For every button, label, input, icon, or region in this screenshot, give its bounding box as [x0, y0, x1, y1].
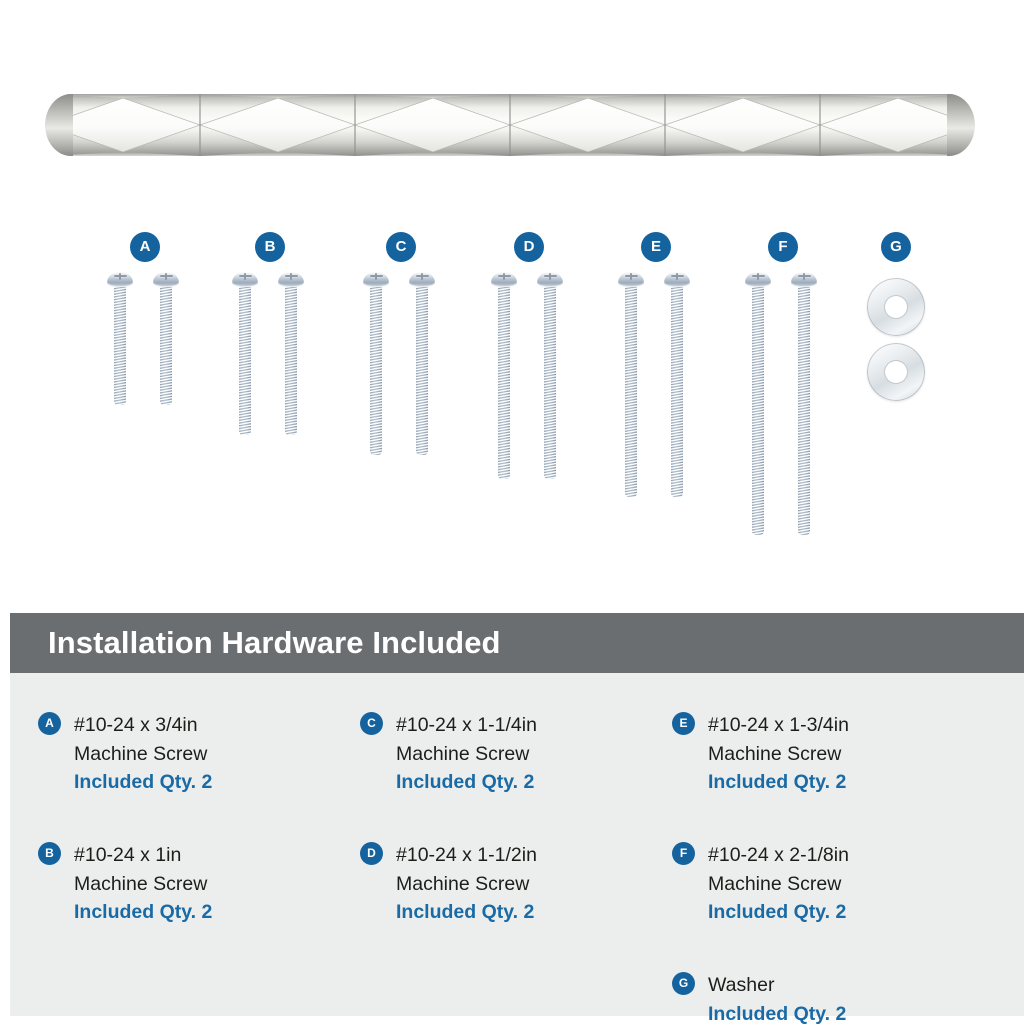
screw-head [153, 272, 179, 287]
legend-badge-a: A [38, 712, 61, 735]
screw-head [791, 272, 817, 287]
screw-head [745, 272, 771, 287]
legend-qty: Included Qty. 2 [396, 898, 680, 927]
legend-spec: #10-24 x 1-1/4in [396, 711, 680, 740]
legend-column-2: C #10-24 x 1-1/4in Machine Screw Include… [360, 673, 680, 933]
screw-shank [752, 287, 764, 535]
legend-body: A #10-24 x 3/4in Machine Screw Included … [10, 673, 1024, 1016]
legend-badge-c: C [360, 712, 383, 735]
washer-2 [867, 343, 925, 401]
screw-shank [544, 287, 556, 479]
legend-badge-g: G [672, 972, 695, 995]
legend-kind: Machine Screw [74, 740, 358, 769]
legend-qty: Included Qty. 2 [708, 768, 992, 797]
screw-d-2 [537, 272, 563, 479]
screw-shank [239, 287, 251, 435]
diagram-badge-f: F [768, 232, 798, 262]
screw-head [232, 272, 258, 287]
screw-head [664, 272, 690, 287]
legend-kind: Machine Screw [708, 740, 992, 769]
legend-item-b: B #10-24 x 1in Machine Screw Included Qt… [38, 841, 358, 933]
legend-kind: Machine Screw [396, 740, 680, 769]
legend-qty: Included Qty. 2 [708, 898, 992, 927]
bar-pull-body [45, 94, 975, 156]
legend-kind: Machine Screw [396, 870, 680, 899]
screw-e-2 [664, 272, 690, 497]
screw-shank [498, 287, 510, 479]
legend-spec: Washer [708, 971, 992, 1000]
legend-kind: Machine Screw [74, 870, 358, 899]
legend-column-3: E #10-24 x 1-3/4in Machine Screw Include… [672, 673, 992, 1031]
screw-d-1 [491, 272, 517, 479]
bar-pull-facet-pattern [45, 94, 975, 156]
screw-f-1 [745, 272, 771, 535]
legend-badge-e: E [672, 712, 695, 735]
legend-spec: #10-24 x 1-3/4in [708, 711, 992, 740]
diagram-badge-c: C [386, 232, 416, 262]
screw-shank [625, 287, 637, 497]
legend-header-bar: Installation Hardware Included [10, 613, 1024, 673]
screw-head [363, 272, 389, 287]
product-hardware-sheet: A B C [0, 0, 1024, 1024]
diagram-badge-b: B [255, 232, 285, 262]
legend-spec: #10-24 x 3/4in [74, 711, 358, 740]
screw-head [278, 272, 304, 287]
screw-b-1 [232, 272, 258, 435]
legend-qty: Included Qty. 2 [74, 768, 358, 797]
legend-item-a: A #10-24 x 3/4in Machine Screw Included … [38, 711, 358, 803]
screw-head [409, 272, 435, 287]
screw-f-2 [791, 272, 817, 535]
screw-head [537, 272, 563, 287]
legend-badge-d: D [360, 842, 383, 865]
screw-shank [160, 287, 172, 405]
screw-head [107, 272, 133, 287]
legend-badge-b: B [38, 842, 61, 865]
screw-b-2 [278, 272, 304, 435]
screw-c-2 [409, 272, 435, 455]
washer-1 [867, 278, 925, 336]
legend-item-d: D #10-24 x 1-1/2in Machine Screw Include… [360, 841, 680, 933]
legend-title: Installation Hardware Included [48, 613, 501, 673]
screw-head [618, 272, 644, 287]
diagram-badge-g: G [881, 232, 911, 262]
screw-a-1 [107, 272, 133, 405]
legend-item-c: C #10-24 x 1-1/4in Machine Screw Include… [360, 711, 680, 803]
screw-shank [671, 287, 683, 497]
product-image-area [0, 0, 1024, 210]
screw-c-1 [363, 272, 389, 455]
diagram-badge-d: D [514, 232, 544, 262]
diagram-badge-a: A [130, 232, 160, 262]
screw-shank [114, 287, 126, 405]
installation-hardware-panel: Installation Hardware Included A #10-24 … [10, 613, 1024, 1016]
legend-spec: #10-24 x 1-1/2in [396, 841, 680, 870]
screw-shank [370, 287, 382, 455]
legend-spec: #10-24 x 2-1/8in [708, 841, 992, 870]
legend-spec: #10-24 x 1in [74, 841, 358, 870]
screw-shank [285, 287, 297, 435]
legend-badge-f: F [672, 842, 695, 865]
legend-qty: Included Qty. 2 [74, 898, 358, 927]
legend-qty: Included Qty. 2 [396, 768, 680, 797]
legend-column-1: A #10-24 x 3/4in Machine Screw Included … [38, 673, 358, 933]
screw-shank [798, 287, 810, 535]
screw-e-1 [618, 272, 644, 497]
hardware-diagram: A B C [0, 210, 1024, 610]
bar-pull-product [45, 94, 975, 156]
legend-kind: Machine Screw [708, 870, 992, 899]
screw-a-2 [153, 272, 179, 405]
legend-item-e: E #10-24 x 1-3/4in Machine Screw Include… [672, 711, 992, 803]
diagram-badge-e: E [641, 232, 671, 262]
legend-item-g: G Washer Included Qty. 2 [672, 971, 992, 1031]
screw-head [491, 272, 517, 287]
screw-shank [416, 287, 428, 455]
legend-item-f: F #10-24 x 2-1/8in Machine Screw Include… [672, 841, 992, 933]
